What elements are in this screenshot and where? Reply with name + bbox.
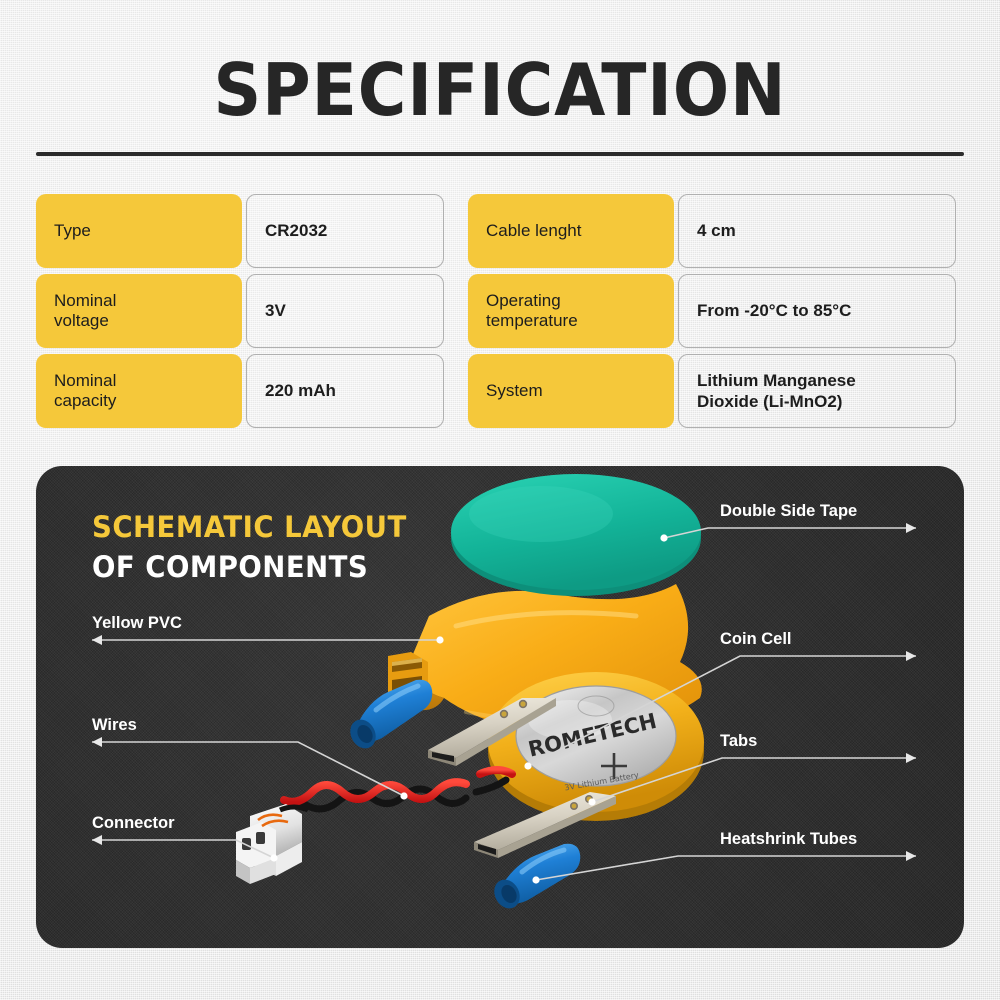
arrow-connector xyxy=(92,835,102,845)
spec-value-nominal-voltage: 3V xyxy=(246,274,444,348)
callout-heatshrink-tubes: Heatshrink Tubes xyxy=(720,830,857,849)
spec-label-nominal-voltage: Nominal voltage xyxy=(36,274,242,348)
callout-yellow-pvc: Yellow PVC xyxy=(92,614,182,633)
column-gap xyxy=(444,354,468,428)
schematic-panel: SCHEMATIC LAYOUT OF COMPONENTS xyxy=(36,466,964,948)
leader-dot-yellow-pvc xyxy=(436,636,443,643)
title-divider xyxy=(36,152,964,156)
spec-value-cable-lenght: 4 cm xyxy=(678,194,956,268)
leader-dot-wires xyxy=(400,792,407,799)
arrow-wires xyxy=(92,737,102,747)
callout-double-side-tape: Double Side Tape xyxy=(720,502,857,521)
arrow-double-side-tape xyxy=(906,523,916,533)
callout-connector: Connector xyxy=(92,814,175,833)
leader-dot-tabs xyxy=(588,798,595,805)
callout-coin-cell: Coin Cell xyxy=(720,630,792,649)
specification-table: Type CR2032 Cable lenght 4 cm Nominal vo… xyxy=(36,194,964,428)
spec-value-operating-temperature: From -20°C to 85°C xyxy=(678,274,956,348)
leader-dot-heatshrink-tubes xyxy=(532,876,539,883)
arrow-heatshrink-tubes xyxy=(906,851,916,861)
arrow-tabs xyxy=(906,753,916,763)
column-gap xyxy=(444,274,468,348)
page-title: SPECIFICATION xyxy=(40,48,960,132)
spec-value-system: Lithium Manganese Dioxide (Li-MnO2) xyxy=(678,354,956,428)
spec-value-type: CR2032 xyxy=(246,194,444,268)
arrow-coin-cell xyxy=(906,651,916,661)
spec-label-system: System xyxy=(468,354,674,428)
leader-lines xyxy=(36,466,964,948)
spec-label-nominal-capacity: Nominal capacity xyxy=(36,354,242,428)
column-gap xyxy=(444,194,468,268)
leader-dot-coin-cell xyxy=(524,762,531,769)
leader-dot-double-side-tape xyxy=(660,534,667,541)
callout-wires: Wires xyxy=(92,716,137,735)
spec-label-cable-lenght: Cable lenght xyxy=(468,194,674,268)
arrow-yellow-pvc xyxy=(92,635,102,645)
spec-label-operating-temperature: Operating temperature xyxy=(468,274,674,348)
callout-tabs: Tabs xyxy=(720,732,757,751)
spec-label-type: Type xyxy=(36,194,242,268)
leader-dot-connector xyxy=(270,854,277,861)
spec-value-nominal-capacity: 220 mAh xyxy=(246,354,444,428)
